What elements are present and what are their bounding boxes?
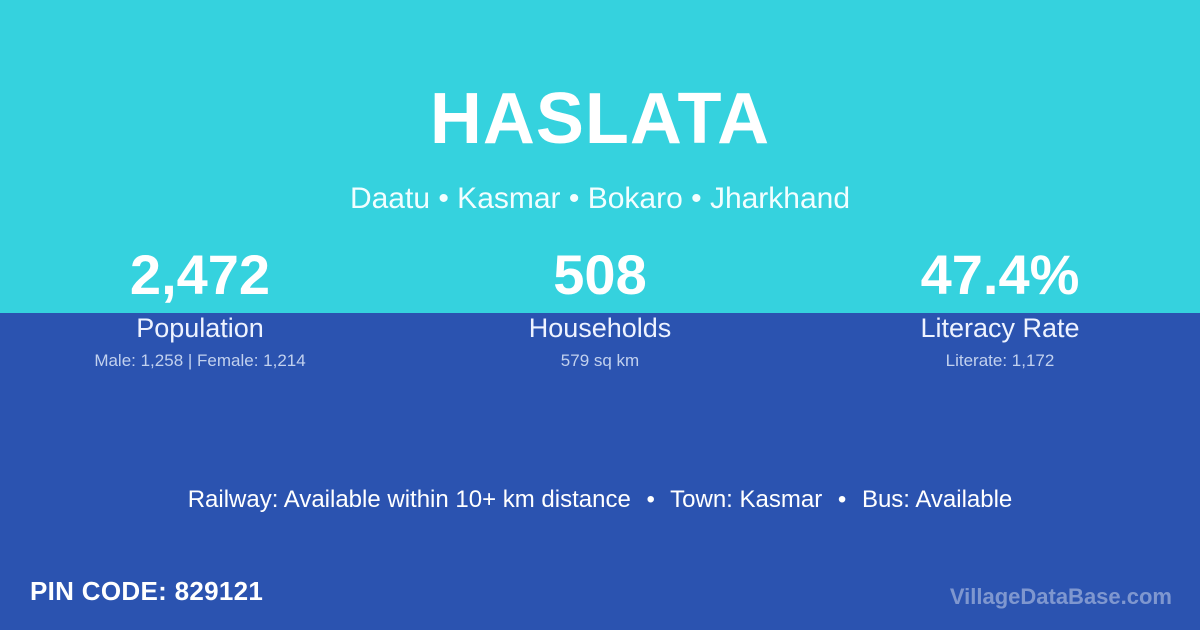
stat-literacy: 47.4% Literacy Rate Literate: 1,172	[800, 244, 1200, 384]
stat-literacy-value: 47.4%	[800, 244, 1200, 306]
infrastructure-line: Railway: Available within 10+ km distanc…	[0, 485, 1200, 515]
stat-population-label: Population	[0, 312, 400, 344]
site-watermark: VillageDataBase.com	[950, 584, 1172, 610]
stat-population-sub: Male: 1,258 | Female: 1,214	[0, 351, 400, 371]
pin-code: PIN CODE: 829121	[30, 575, 263, 607]
infra-separator-2: •	[829, 486, 855, 513]
infra-bus: Bus: Available	[862, 486, 1012, 513]
stat-households: 508 Households 579 sq km	[400, 244, 800, 384]
stat-literacy-sub: Literate: 1,172	[800, 351, 1200, 371]
stat-population-value: 2,472	[0, 244, 400, 306]
infra-separator-1: •	[638, 486, 664, 513]
village-info-card: HASLATA Daatu • Kasmar • Bokaro • Jharkh…	[0, 0, 1200, 630]
page-title: HASLATA	[0, 83, 1200, 155]
stat-population: 2,472 Population Male: 1,258 | Female: 1…	[0, 244, 400, 384]
footer: PIN CODE: 829121 VillageDataBase.com	[0, 570, 1200, 630]
stat-households-sub: 579 sq km	[400, 351, 800, 371]
infra-town: Town: Kasmar	[670, 486, 822, 513]
stat-literacy-label: Literacy Rate	[800, 312, 1200, 344]
stat-households-value: 508	[400, 244, 800, 306]
breadcrumb: Daatu • Kasmar • Bokaro • Jharkhand	[0, 181, 1200, 217]
stats-row: 2,472 Population Male: 1,258 | Female: 1…	[0, 244, 1200, 384]
infra-railway: Railway: Available within 10+ km distanc…	[188, 486, 631, 513]
stat-households-label: Households	[400, 312, 800, 344]
